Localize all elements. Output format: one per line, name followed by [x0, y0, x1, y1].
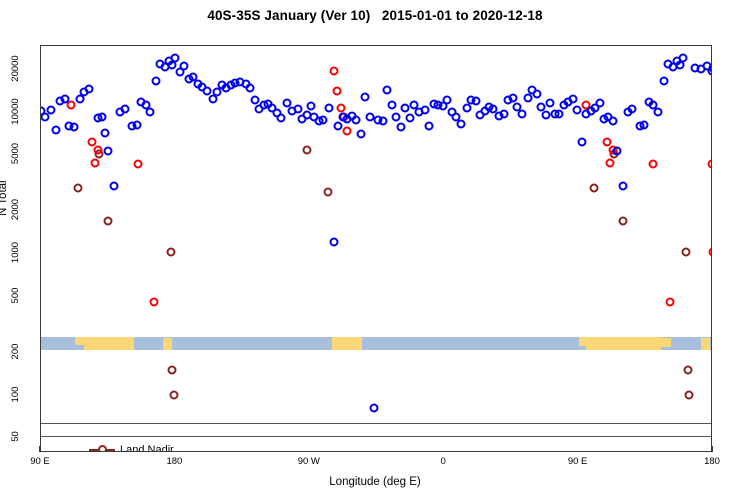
data-point-ocean_glint: [613, 147, 622, 156]
data-point-ocean_glint: [628, 104, 637, 113]
data-point-ocean_glint: [568, 95, 577, 104]
land-mass-australia-wrap: [622, 337, 661, 350]
data-point-ocean_glint: [370, 404, 379, 413]
y-tick-label: 50: [10, 421, 21, 452]
data-point-land_glint: [90, 158, 99, 167]
data-point-land_glint: [665, 297, 674, 306]
y-tick-label: 500: [10, 280, 21, 311]
data-point-ocean_glint: [365, 112, 374, 121]
y-tick-label: 5000: [10, 138, 21, 169]
data-point-ocean_glint: [401, 103, 410, 112]
data-point-land_nadir: [168, 365, 177, 374]
x-tick-label: 90 E: [30, 456, 50, 467]
legend-marker-icon: [89, 443, 115, 452]
y-tick-label: 20000: [10, 53, 21, 84]
data-point-land_glint: [707, 160, 712, 169]
data-point-land_glint: [150, 297, 159, 306]
data-point-land_nadir: [683, 365, 692, 374]
data-point-ocean_glint: [361, 93, 370, 102]
data-point-ocean_glint: [277, 114, 286, 123]
x-axis-label: Longitude (deg E): [0, 476, 750, 488]
data-point-ocean_glint: [456, 120, 465, 129]
data-point-ocean_glint: [325, 104, 334, 113]
data-point-ocean_glint: [392, 113, 401, 122]
data-point-land_nadir: [302, 146, 311, 155]
data-point-ocean_glint: [132, 120, 141, 129]
y-tick-label: 2000: [10, 194, 21, 225]
y-tick-label: 100: [10, 379, 21, 410]
data-point-ocean_glint: [319, 116, 328, 125]
data-point-ocean_glint: [171, 54, 180, 63]
data-point-ocean_glint: [577, 137, 586, 146]
data-point-ocean_glint: [608, 116, 617, 125]
data-point-ocean_glint: [329, 237, 338, 246]
data-point-ocean_glint: [659, 77, 668, 86]
legend-dot-icon: [98, 445, 107, 452]
land-mass-australia-main: [84, 337, 123, 350]
data-point-ocean_glint: [334, 121, 343, 130]
land-mass-south-america-core: [337, 337, 358, 350]
data-point-land_glint: [649, 160, 658, 169]
x-tick-label: 0: [441, 456, 446, 467]
data-point-ocean_glint: [546, 98, 555, 107]
data-point-land_glint: [337, 103, 346, 112]
data-point-ocean_glint: [532, 89, 541, 98]
data-point-land_nadir: [589, 183, 598, 192]
data-point-ocean_glint: [180, 61, 189, 70]
data-point-ocean_glint: [51, 125, 60, 134]
land-mass-new-zealand: [163, 338, 172, 350]
data-point-land_nadir: [104, 216, 113, 225]
data-point-ocean_glint: [378, 116, 387, 125]
data-point-ocean_glint: [146, 107, 155, 116]
data-point-ocean_glint: [517, 109, 526, 118]
data-point-land_nadir: [682, 247, 691, 256]
data-point-ocean_glint: [420, 105, 429, 114]
data-point-ocean_glint: [110, 181, 119, 190]
data-point-land_nadir: [169, 391, 178, 400]
data-point-ocean_glint: [387, 100, 396, 109]
data-point-ocean_glint: [709, 63, 713, 72]
x-tick-label: 180: [166, 456, 182, 467]
data-point-ocean_glint: [405, 114, 414, 123]
data-point-land_glint: [605, 158, 614, 167]
data-point-ocean_glint: [60, 95, 69, 104]
plot-area: Land NadirLand GlintOcean Glint: [40, 45, 712, 452]
data-point-ocean_glint: [101, 128, 110, 137]
reference-hline-1: [41, 436, 711, 437]
data-point-land_glint: [329, 66, 338, 75]
data-point-land_glint: [93, 146, 102, 155]
data-point-ocean_glint: [47, 105, 56, 114]
data-point-ocean_glint: [383, 86, 392, 95]
land-mass-new-zealand-wrap: [701, 338, 710, 350]
data-point-ocean_glint: [619, 181, 628, 190]
y-tick-label: 10000: [10, 96, 21, 127]
data-point-ocean_glint: [69, 123, 78, 132]
x-tick-label: 90 E: [568, 456, 588, 467]
data-point-ocean_glint: [508, 94, 517, 103]
data-point-ocean_glint: [640, 120, 649, 129]
data-point-land_glint: [134, 160, 143, 169]
x-tick-label: 180: [704, 456, 720, 467]
data-point-ocean_glint: [541, 110, 550, 119]
land-mass-australia-east: [123, 340, 133, 350]
data-point-land_glint: [332, 86, 341, 95]
y-tick-label: 1000: [10, 237, 21, 268]
legend: Land NadirLand GlintOcean Glint: [89, 442, 239, 452]
data-point-ocean_glint: [84, 85, 93, 94]
scatter-plot-figure: 40S-35S January (Ver 10) 2015-01-01 to 2…: [0, 0, 750, 500]
reference-hline-0: [41, 423, 711, 424]
y-tick-label: 200: [10, 336, 21, 367]
data-point-ocean_glint: [595, 99, 604, 108]
data-point-ocean_glint: [653, 107, 662, 116]
data-point-ocean_glint: [679, 54, 688, 63]
data-point-ocean_glint: [499, 110, 508, 119]
data-point-ocean_glint: [151, 77, 160, 86]
data-point-ocean_glint: [120, 104, 129, 113]
data-point-land_nadir: [619, 216, 628, 225]
data-point-ocean_glint: [356, 129, 365, 138]
data-point-land_nadir: [323, 187, 332, 196]
data-point-ocean_glint: [396, 123, 405, 132]
data-point-ocean_glint: [352, 116, 361, 125]
data-point-ocean_glint: [573, 105, 582, 114]
data-point-land_nadir: [74, 183, 83, 192]
data-point-ocean_glint: [104, 147, 113, 156]
data-point-land_glint: [709, 247, 713, 256]
legend-item-land-nadir[interactable]: Land Nadir: [89, 442, 239, 452]
data-point-ocean_glint: [443, 96, 452, 105]
data-point-ocean_glint: [555, 110, 564, 119]
data-point-land_glint: [343, 127, 352, 136]
y-axis-label: N Total: [0, 180, 9, 216]
data-point-ocean_glint: [41, 113, 50, 122]
data-point-land_nadir: [166, 247, 175, 256]
data-point-land_glint: [87, 137, 96, 146]
data-point-ocean_glint: [425, 121, 434, 130]
data-point-land_glint: [602, 137, 611, 146]
data-point-ocean_glint: [471, 97, 480, 106]
data-point-ocean_glint: [293, 105, 302, 114]
data-point-land_nadir: [685, 391, 694, 400]
legend-label: Land Nadir: [120, 444, 174, 453]
x-tick-label: 90 W: [298, 456, 320, 467]
data-point-ocean_glint: [98, 112, 107, 121]
data-point-ocean_glint: [75, 95, 84, 104]
data-point-ocean_glint: [307, 102, 316, 111]
page-title: 40S-35S January (Ver 10) 2015-01-01 to 2…: [0, 8, 750, 23]
data-point-ocean_glint: [246, 84, 255, 93]
